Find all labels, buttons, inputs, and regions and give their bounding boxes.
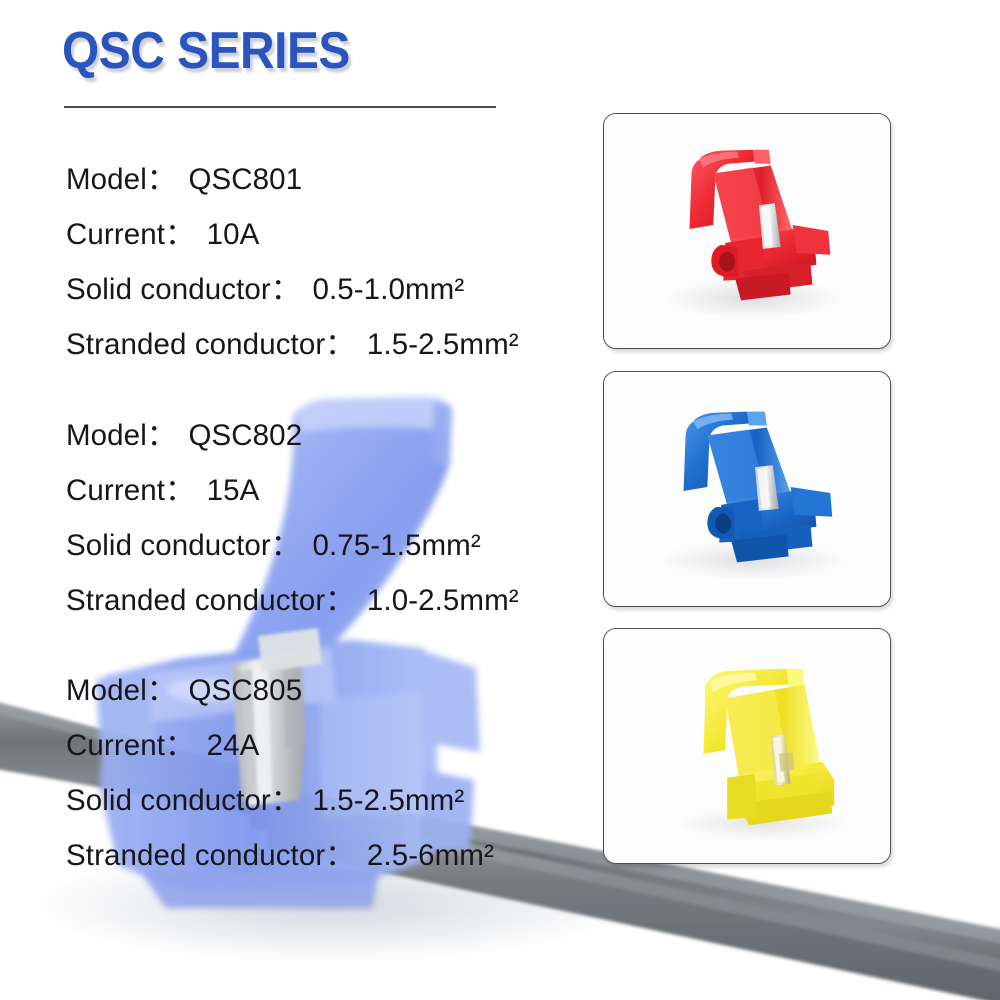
spec-value: QSC801 — [188, 163, 302, 196]
spec-value: 1.5-2.5mm² — [312, 784, 464, 817]
spec-block-qsc801: Model：QSC801 Current：10A Solid conductor… — [66, 152, 519, 372]
spec-label: Current： — [66, 474, 195, 507]
spec-value: 0.5-1.0mm² — [312, 273, 464, 306]
title-divider — [64, 106, 496, 108]
spec-block-qsc802: Model：QSC802 Current：15A Solid conductor… — [66, 408, 519, 628]
spec-value: 0.75-1.5mm² — [312, 529, 480, 562]
spec-line-model: Model：QSC805 — [66, 663, 494, 718]
product-card-red — [603, 113, 891, 349]
spec-label: Stranded conductor： — [66, 839, 355, 872]
spec-value: 15A — [207, 474, 260, 507]
spec-label: Stranded conductor： — [66, 584, 355, 617]
spec-value: 2.5-6mm² — [367, 839, 494, 872]
spec-label: Model： — [66, 419, 176, 452]
spec-line-model: Model：QSC802 — [66, 408, 519, 463]
spec-block-qsc805: Model：QSC805 Current：24A Solid conductor… — [66, 663, 494, 883]
spec-label: Model： — [66, 674, 176, 707]
product-card-yellow — [603, 628, 891, 864]
product-card-blue — [603, 371, 891, 607]
spec-line-model: Model：QSC801 — [66, 152, 519, 207]
spec-label: Solid conductor： — [66, 273, 300, 306]
spec-label: Solid conductor： — [66, 529, 300, 562]
spec-line-solid-conductor: Solid conductor：1.5-2.5mm² — [66, 773, 494, 828]
spec-line-stranded-conductor: Stranded conductor：1.0-2.5mm² — [66, 573, 519, 628]
spec-label: Solid conductor： — [66, 784, 300, 817]
product-photo-blue — [604, 372, 890, 606]
spec-line-solid-conductor: Solid conductor：0.75-1.5mm² — [66, 518, 519, 573]
spec-label: Stranded conductor： — [66, 328, 355, 361]
page-title: QSC SERIES — [62, 24, 350, 79]
spec-value: 1.0-2.5mm² — [367, 584, 519, 617]
spec-value: QSC805 — [188, 674, 302, 707]
spec-line-stranded-conductor: Stranded conductor：2.5-6mm² — [66, 828, 494, 883]
spec-value: 24A — [207, 729, 260, 762]
spec-label: Current： — [66, 729, 195, 762]
spec-label: Current： — [66, 218, 195, 251]
spec-value: QSC802 — [188, 419, 302, 452]
spec-line-stranded-conductor: Stranded conductor：1.5-2.5mm² — [66, 317, 519, 372]
product-spec-sheet: QSC SERIES Model：QSC801 Current：10A Soli… — [0, 0, 1000, 1000]
spec-value: 10A — [207, 218, 260, 251]
product-photo-red — [604, 114, 890, 348]
spec-line-current: Current：15A — [66, 463, 519, 518]
spec-value: 1.5-2.5mm² — [367, 328, 519, 361]
spec-label: Model： — [66, 163, 176, 196]
product-photo-yellow — [604, 629, 890, 863]
spec-line-current: Current：10A — [66, 207, 519, 262]
spec-line-current: Current：24A — [66, 718, 494, 773]
spec-line-solid-conductor: Solid conductor：0.5-1.0mm² — [66, 262, 519, 317]
